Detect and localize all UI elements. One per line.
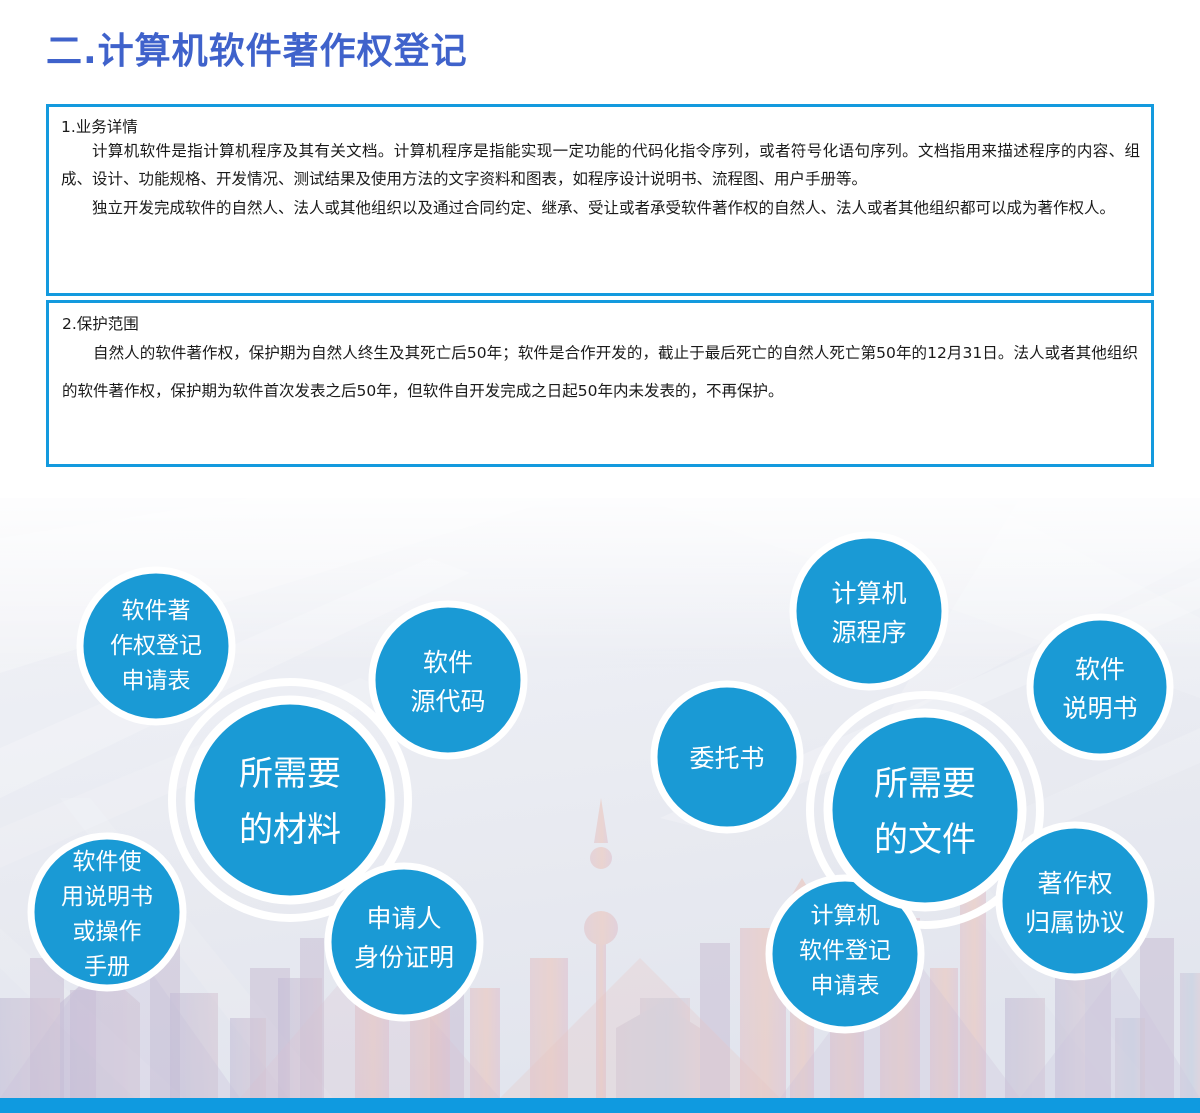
bubble-application-form[interactable]: 软件著 作权登记 申请表 [80, 570, 232, 722]
materials-center-line-1: 所需要 [239, 754, 341, 794]
bubble-source-code[interactable]: 软件 源代码 [372, 604, 524, 756]
bubble-registration-form-line-3: 申请表 [811, 973, 880, 999]
bubble-registration-form-line-1: 计算机 [811, 903, 880, 929]
bubble-applicant-id[interactable]: 申请人 身份证明 [328, 866, 480, 1018]
business-details-box: 1.业务详情 计算机软件是指计算机程序及其有关文档。计算机程序是指能实现一定功能… [46, 104, 1154, 296]
business-details-paragraph-1: 计算机软件是指计算机程序及其有关文档。计算机程序是指能实现一定功能的代码化指令序… [61, 137, 1140, 194]
requirements-infographic: 软件著 作权登记 申请表 软件 源代码 软件使 用说明书 或操作 手册 申请人 … [0, 498, 1200, 1113]
bubble-software-spec-line-2: 说明书 [1062, 694, 1137, 723]
page-title: 二.计算机软件著作权登记 [46, 22, 468, 74]
bubble-applicant-id-line-1: 申请人 [366, 904, 441, 933]
bubble-source-code-line-1: 软件 [423, 648, 473, 677]
bubble-registration-form-line-2: 软件登记 [799, 938, 891, 964]
bubble-ownership-agreement-line-2: 归属协议 [1025, 908, 1125, 937]
bubble-source-program-line-1: 计算机 [831, 579, 906, 608]
business-details-heading: 1.业务详情 [61, 118, 1140, 137]
documents-center-line-2: 的文件 [874, 820, 976, 860]
materials-center-line-2: 的材料 [239, 810, 341, 850]
bubble-documents-center[interactable]: 所需要 的文件 [828, 713, 1022, 907]
bubble-source-code-line-2: 源代码 [410, 687, 485, 716]
protection-scope-heading: 2.保护范围 [62, 315, 1138, 334]
bubble-ownership-agreement[interactable]: 著作权 归属协议 [999, 825, 1151, 977]
bubble-user-manual-line-3: 或操作 [73, 919, 142, 945]
bubble-application-form-line-1: 软件著 [122, 598, 191, 624]
bubble-user-manual[interactable]: 软件使 用说明书 或操作 手册 [31, 836, 183, 988]
bubble-materials-center[interactable]: 所需要 的材料 [190, 700, 390, 900]
bubble-power-of-attorney[interactable]: 委托书 [654, 684, 800, 830]
bubble-user-manual-line-2: 用说明书 [61, 884, 153, 910]
documents-center-line-1: 所需要 [874, 764, 976, 804]
bubble-ownership-agreement-line-1: 著作权 [1037, 869, 1112, 898]
bubble-applicant-id-line-2: 身份证明 [354, 943, 454, 972]
bubble-source-program[interactable]: 计算机 源程序 [793, 535, 945, 687]
bubble-source-program-line-2: 源程序 [831, 618, 906, 647]
bubble-software-spec[interactable]: 软件 说明书 [1030, 617, 1170, 757]
bubble-software-spec-line-1: 软件 [1075, 655, 1125, 684]
bubble-application-form-line-2: 作权登记 [110, 633, 202, 659]
protection-scope-paragraph-1: 自然人的软件著作权，保护期为自然人终生及其死亡后50年；软件是合作开发的，截止于… [62, 334, 1138, 410]
protection-scope-box: 2.保护范围 自然人的软件著作权，保护期为自然人终生及其死亡后50年；软件是合作… [46, 300, 1154, 467]
bubble-application-form-line-3: 申请表 [122, 668, 191, 694]
bubble-user-manual-line-4: 手册 [84, 954, 130, 980]
document-area: 二.计算机软件著作权登记 1.业务详情 计算机软件是指计算机程序及其有关文档。计… [0, 0, 1200, 498]
bubble-power-of-attorney-line-1: 委托书 [689, 744, 764, 773]
bottom-accent-bar [0, 1098, 1200, 1113]
bubble-user-manual-line-1: 软件使 [73, 849, 142, 875]
business-details-paragraph-2: 独立开发完成软件的自然人、法人或其他组织以及通过合同约定、继承、受让或者承受软件… [61, 194, 1140, 223]
